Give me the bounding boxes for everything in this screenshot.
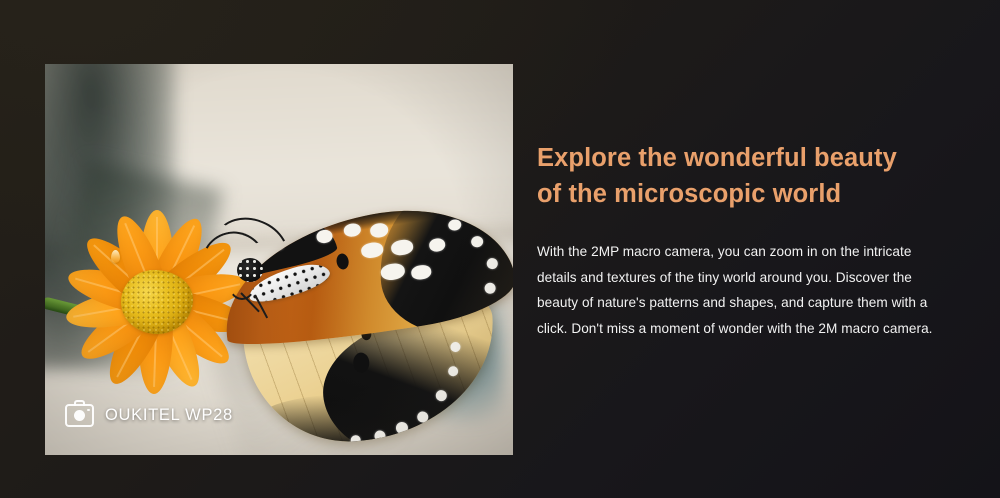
photo-vignette	[45, 64, 513, 455]
macro-sample-photo: OUKITEL WP28	[45, 64, 513, 455]
headline-line-1: Explore the wonderful beauty	[537, 140, 937, 176]
feature-copy-block: Explore the wonderful beauty of the micr…	[537, 140, 937, 341]
photo-watermark: OUKITEL WP28	[65, 404, 233, 427]
feature-headline: Explore the wonderful beauty of the micr…	[537, 140, 937, 212]
camera-lens-icon	[74, 410, 85, 421]
macro-camera-feature-section: OUKITEL WP28 Explore the wonderful beaut…	[0, 0, 1000, 498]
headline-line-2: of the microscopic world	[537, 176, 937, 212]
photo-canvas: OUKITEL WP28	[45, 64, 513, 455]
watermark-label: OUKITEL WP28	[105, 406, 233, 425]
feature-body-text: With the 2MP macro camera, you can zoom …	[537, 239, 937, 341]
camera-flash-dot-icon	[87, 409, 90, 412]
camera-icon	[65, 404, 94, 427]
